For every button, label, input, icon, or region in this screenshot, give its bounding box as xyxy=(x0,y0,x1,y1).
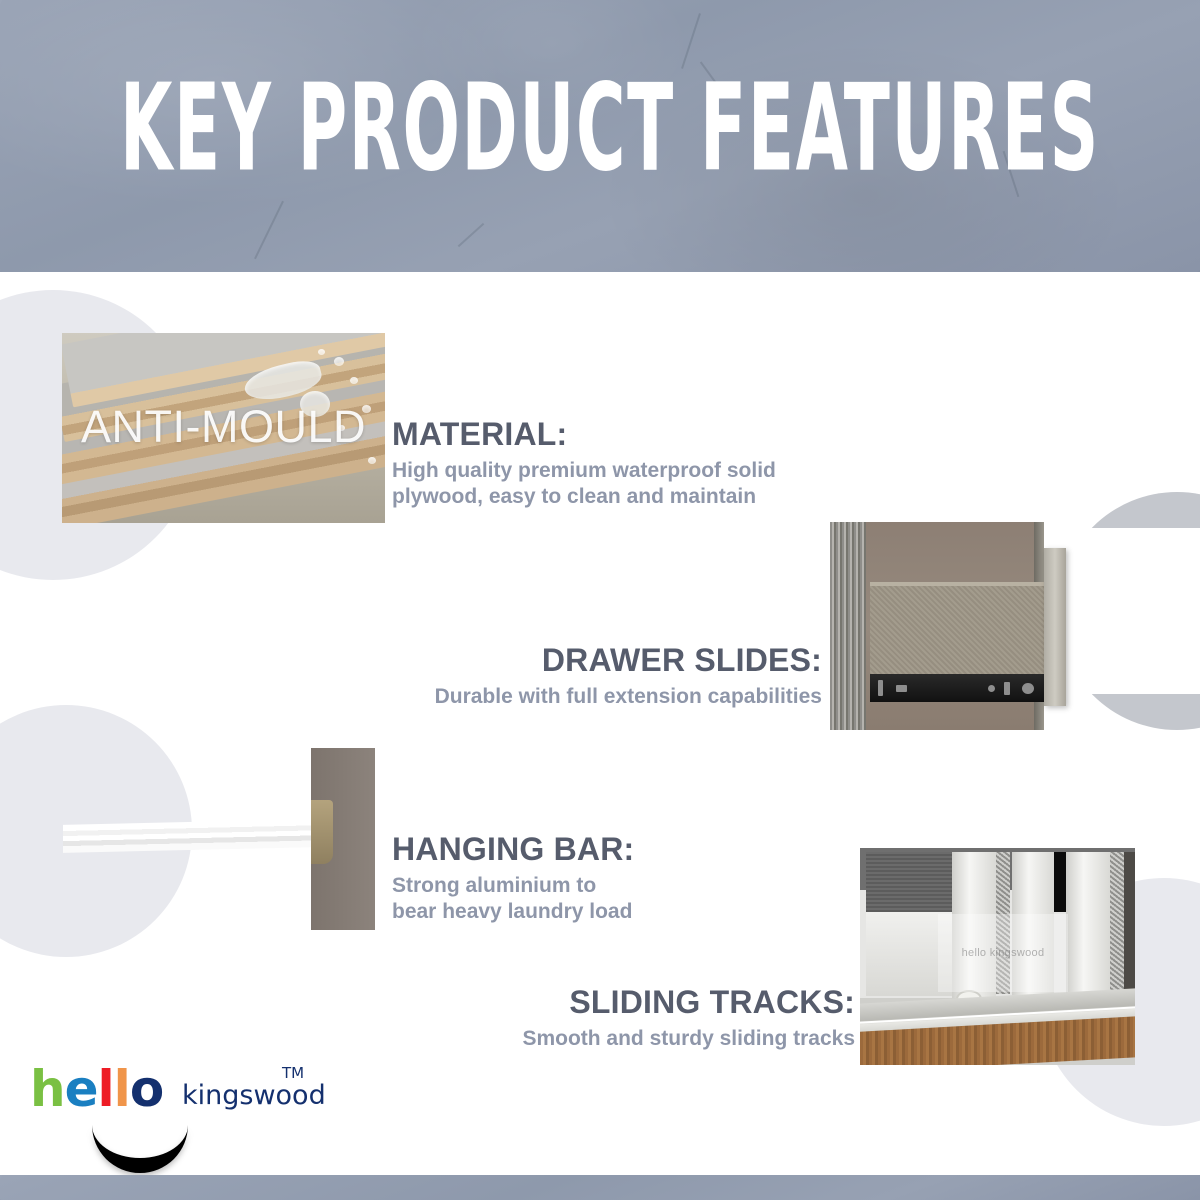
logo-kingswood-wordmark: kingswood xyxy=(182,1080,326,1111)
logo-letter-o: o xyxy=(130,1062,163,1116)
water-droplet-icon xyxy=(334,357,344,366)
drawer-slide-photo xyxy=(830,522,1075,730)
footer-strip xyxy=(0,1175,1200,1200)
drawer-box xyxy=(870,586,1046,678)
feature-body-hanging-bar-line1: Strong aluminium to xyxy=(392,873,812,900)
feature-body-hanging-bar-line2: bear heavy laundry load xyxy=(392,899,812,926)
brand-logo: hello kingswood TM xyxy=(30,1062,320,1162)
footer-texture xyxy=(0,1175,1200,1200)
feature-body-sliding-tracks: Smooth and sturdy sliding tracks xyxy=(395,1026,855,1053)
logo-letter-h: h xyxy=(30,1062,65,1116)
water-droplet-icon xyxy=(318,349,325,355)
sliding-track-photo: hello kingswood xyxy=(860,848,1135,1065)
sliding-door-foam-seal xyxy=(1110,852,1124,994)
hanging-bar-bracket xyxy=(311,800,333,864)
logo-letter-l1: l xyxy=(98,1062,114,1116)
feature-heading-hanging-bar: HANGING BAR: xyxy=(392,833,812,867)
feature-body-material-line2: plywood, easy to clean and maintain xyxy=(392,484,832,511)
anti-mould-overlay-caption: ANTI-MOULD xyxy=(62,401,385,453)
feature-body-material-line1: High quality premium waterproof solid xyxy=(392,458,832,485)
feature-heading-sliding-tracks: SLIDING TRACKS: xyxy=(395,986,855,1020)
sliding-door-gap xyxy=(1054,852,1066,912)
feature-heading-drawer-slides: DRAWER SLIDES: xyxy=(322,644,822,678)
drawer-wall-panel xyxy=(830,522,866,730)
decor-circle-right-mask xyxy=(1058,528,1200,694)
hanging-bar-photo xyxy=(63,748,375,930)
aluminium-hanging-bar xyxy=(63,819,321,853)
drawer-slide-rail xyxy=(870,674,1056,702)
water-droplet-icon xyxy=(368,457,376,464)
photo-watermark: hello kingswood xyxy=(938,914,1068,992)
feature-body-drawer-slides: Durable with full extension capabilities xyxy=(322,684,822,711)
page-title: KEY PRODUCT FEATURES xyxy=(120,66,1080,194)
anti-mould-plywood-photo: ANTI-MOULD xyxy=(62,333,385,523)
sliding-track-dark-panel xyxy=(866,852,952,912)
logo-smile-icon xyxy=(92,1114,188,1173)
logo-letter-e: e xyxy=(65,1062,98,1116)
feature-text-drawer-slides: DRAWER SLIDES: Durable with full extensi… xyxy=(322,644,822,710)
feature-heading-material: MATERIAL: xyxy=(392,418,832,452)
feature-text-hanging-bar: HANGING BAR: Strong aluminium to bear he… xyxy=(392,833,812,926)
sliding-door-interior-gap xyxy=(1124,852,1135,998)
feature-text-material: MATERIAL: High quality premium waterproo… xyxy=(392,418,832,511)
feature-text-sliding-tracks: SLIDING TRACKS: Smooth and sturdy slidin… xyxy=(395,986,855,1052)
drawer-front-panel xyxy=(1044,548,1066,706)
water-droplet-icon xyxy=(350,377,358,384)
logo-letter-l2: l xyxy=(114,1062,130,1116)
infographic-page: KEY PRODUCT FEATURES ANTI-MOULD MATERIAL… xyxy=(0,0,1200,1200)
header-banner: KEY PRODUCT FEATURES xyxy=(0,0,1200,272)
sliding-door-slat xyxy=(1066,852,1110,998)
logo-hello-wordmark: hello xyxy=(30,1062,163,1116)
logo-trademark-symbol: TM xyxy=(282,1064,304,1082)
